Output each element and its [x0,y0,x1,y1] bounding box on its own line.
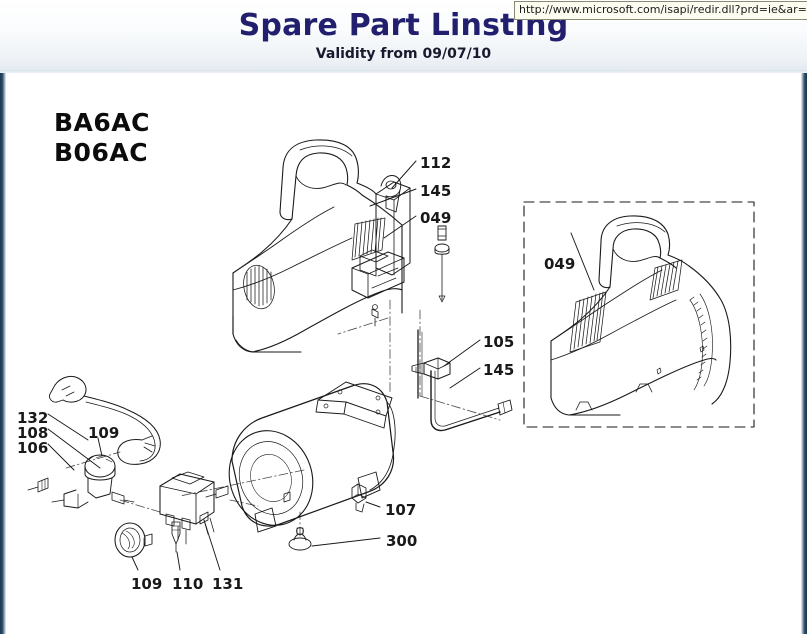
cover-vent-left [240,262,278,311]
model-code-list: BA6AC B06AC [54,108,150,168]
status-bar-url: http://www.microsoft.com/isapi/redir.dll… [514,1,807,20]
regulator-109 [28,455,134,508]
model-code-2: B06AC [54,138,150,168]
cover-vent-top [352,218,385,260]
power-cord-assembly [49,376,160,464]
detail-vent-top [650,260,682,300]
spare-parts-page: Spare Part Linsting Validity from 09/07/… [0,0,807,634]
callout-number: 131 [212,575,243,593]
callout-number: 049 [420,209,451,227]
fastener-049 [435,226,449,302]
callout-number: 109 [131,575,162,593]
callout-inset-049: 049 [544,255,575,273]
callout-number: 300 [386,532,417,550]
model-code-1: BA6AC [54,108,150,138]
switch-block-145 [352,250,404,298]
callout-number: 109 [88,424,119,442]
pressure-gauge-109 [115,523,152,557]
cover-screw [372,305,378,326]
detail-side-hatching [690,294,713,390]
detail-inset-box [524,202,754,427]
air-tank-assembly [206,382,395,550]
callout-number: 145 [420,182,451,200]
switch-bracket-112 [376,175,410,275]
pressure-switch-131 [160,472,214,544]
callout-number: 107 [385,501,416,519]
callout-number: 112 [420,154,451,172]
detail-vent-left [570,292,606,352]
drain-valve-107 [352,484,366,512]
callout-number: 145 [483,361,514,379]
callout-number: 106 [17,439,48,457]
callout-number: 105 [483,333,514,351]
fastener-110 [172,522,180,552]
compressor-cover-assembly [233,140,410,352]
callout-number: 110 [172,575,203,593]
detail-cover-049 [551,216,731,415]
